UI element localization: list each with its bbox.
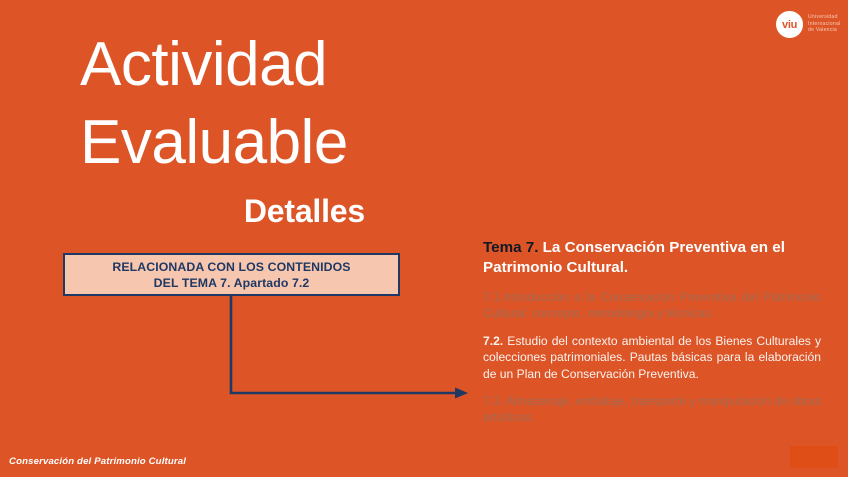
slide-canvas: viu Universidad Internacional de Valenci… xyxy=(0,0,848,477)
viu-logo-mark-text: viu xyxy=(782,20,797,31)
list-item: 7.2. Estudio del contexto ambiental de l… xyxy=(483,333,821,382)
panel-title: Tema 7. La Conservación Preventiva en el… xyxy=(483,238,821,278)
footer-text: Conservación del Patrimonio Cultural xyxy=(9,456,186,467)
page-title-line-2: Evaluable xyxy=(80,104,450,182)
viu-logo-word-3: de Valencia xyxy=(808,27,840,33)
list-item: 7.1.Introducción a la Conservación Preve… xyxy=(483,289,821,322)
list-item: 7.3. Almacenaje, embalaje, transporte y … xyxy=(483,393,821,426)
callout-box: RELACIONADA CON LOS CONTENIDOS DEL TEMA … xyxy=(63,253,400,296)
page-title: Actividad Evaluable xyxy=(80,26,450,182)
callout-line-2: DEL TEMA 7. Apartado 7.2 xyxy=(154,275,310,291)
list-item-text: 7.1.Introducción a la Conservación Preve… xyxy=(483,290,821,320)
page-subtitle: Detalles xyxy=(80,192,365,230)
viu-logo: viu Universidad Internacional de Valenci… xyxy=(776,9,842,39)
page-title-line-1: Actividad xyxy=(80,26,450,104)
list-item-number: 7.2. xyxy=(483,334,503,348)
viu-logo-wordmark: Universidad Internacional de Valencia xyxy=(808,14,840,33)
list-item-text: Estudio del contexto ambiental de los Bi… xyxy=(483,334,821,381)
footer-color-swatch xyxy=(790,446,838,468)
list-item-text: 7.3. Almacenaje, embalaje, transporte y … xyxy=(483,394,821,424)
viu-logo-mark: viu xyxy=(776,11,803,38)
content-panel: Tema 7. La Conservación Preventiva en el… xyxy=(483,238,821,426)
callout-line-1: RELACIONADA CON LOS CONTENIDOS xyxy=(112,259,350,275)
panel-title-label: Tema 7. xyxy=(483,239,538,256)
